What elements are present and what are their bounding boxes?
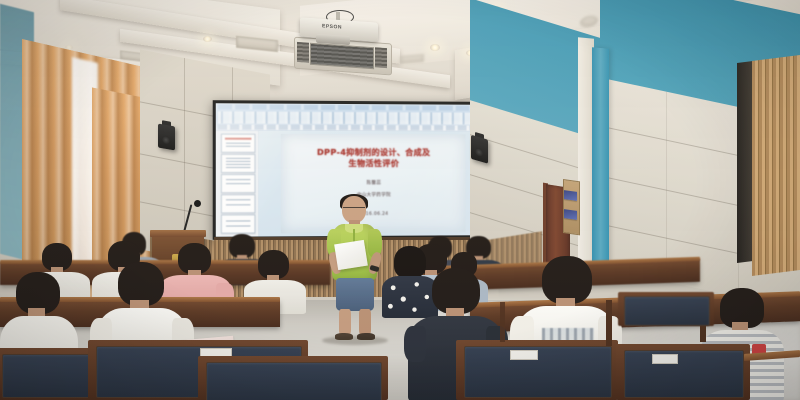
presenter bbox=[320, 196, 390, 346]
seat-back[interactable] bbox=[624, 350, 744, 398]
seat-back[interactable] bbox=[464, 346, 612, 398]
ribbon-icons[interactable] bbox=[218, 111, 473, 124]
presenter-leg-left bbox=[339, 309, 351, 335]
presenter-leg-right bbox=[359, 309, 371, 335]
seat-back[interactable] bbox=[206, 362, 382, 400]
seat-number-label bbox=[510, 350, 538, 360]
ribbon-tabs[interactable] bbox=[218, 104, 473, 110]
presenter-shadow bbox=[322, 336, 388, 345]
speaker-left bbox=[158, 120, 175, 151]
speaker-right bbox=[471, 131, 486, 162]
slide-thumbnail[interactable] bbox=[221, 134, 256, 153]
downlight-icon bbox=[203, 36, 212, 42]
slide-thumbnail-pane[interactable] bbox=[216, 131, 260, 237]
lecture-hall-photo: EPSON bbox=[0, 0, 800, 400]
slide-thumbnail[interactable] bbox=[221, 174, 256, 193]
brochure-holder[interactable] bbox=[563, 179, 578, 233]
seat-number-label bbox=[652, 354, 678, 364]
ceiling-projector: EPSON bbox=[300, 14, 378, 40]
slide-title-line1: DPP-4抑制剂的设计、合成及 bbox=[281, 147, 466, 158]
wood-slat-panel-right bbox=[752, 55, 800, 276]
right-wall-recess bbox=[737, 61, 753, 263]
glasses-icon bbox=[343, 207, 365, 213]
downlight-icon bbox=[430, 44, 440, 51]
slide-thumbnail[interactable] bbox=[221, 194, 256, 213]
presenter-shorts bbox=[336, 278, 374, 311]
desk-leg bbox=[606, 300, 612, 346]
presenter-notes bbox=[334, 240, 368, 270]
powerpoint-ribbon bbox=[216, 103, 474, 132]
slide-thumbnail[interactable] bbox=[221, 154, 256, 173]
microphone-icon bbox=[194, 200, 201, 207]
desk-leg bbox=[500, 302, 505, 342]
slide-thumbnail[interactable] bbox=[221, 214, 256, 233]
right-wall-column-teal bbox=[592, 47, 609, 263]
slide-presenter-name: 陈馨蕊 bbox=[281, 180, 466, 186]
slide-title-line2: 生物活性评价 bbox=[281, 158, 466, 169]
projector-brand-label: EPSON bbox=[322, 23, 342, 30]
ribbon-icons-secondary[interactable] bbox=[218, 124, 473, 130]
seat-back[interactable] bbox=[624, 296, 710, 326]
